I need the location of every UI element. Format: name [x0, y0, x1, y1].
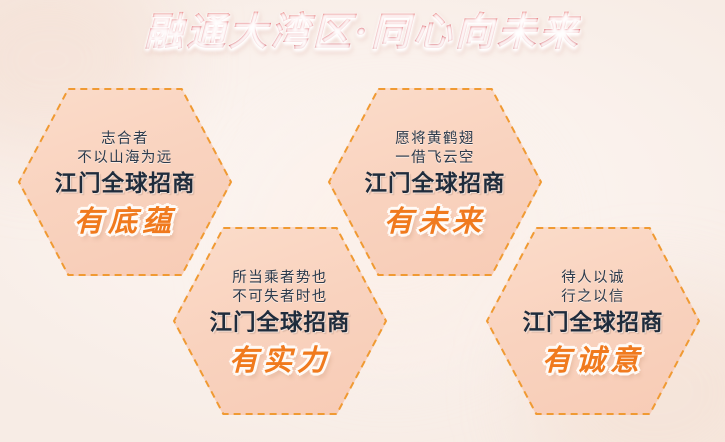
hex-card-4-poem-line-2: 行之以信 [561, 288, 625, 307]
hex-card-3-content: 所当乘者势也 不可失者时也 江门全球招商 有实力 [173, 227, 387, 415]
hex-card-2-accent: 有未来 [384, 204, 486, 238]
hex-card-3-poem-line-1: 所当乘者势也 [232, 269, 327, 288]
hex-card-3-accent: 有实力 [229, 343, 331, 377]
poster-canvas: 融通大湾区·同心向未来 志合者 不以山海为远 江门全球招商 有底蕴 愿将黄鹤翅 … [0, 0, 725, 442]
hex-card-3-brand: 江门全球招商 [209, 309, 350, 336]
poster-title: 融通大湾区·同心向未来 [144, 8, 581, 56]
hex-card-4[interactable]: 待人以诚 行之以信 江门全球招商 有诚意 [486, 227, 700, 415]
hex-card-2-poem-line-2: 一借飞云空 [395, 149, 475, 168]
hex-card-4-poem-line-1: 待人以诚 [561, 269, 625, 288]
hex-card-1-accent: 有底蕴 [74, 204, 176, 238]
hex-card-1-poem-line-1: 志合者 [101, 130, 149, 149]
hex-card-2-poem-line-1: 愿将黄鹤翅 [395, 130, 475, 149]
hex-card-3-poem-line-2: 不可失者时也 [232, 288, 327, 307]
hex-card-4-content: 待人以诚 行之以信 江门全球招商 有诚意 [486, 227, 700, 415]
hex-card-2-brand: 江门全球招商 [364, 170, 505, 197]
hex-card-1-poem-line-2: 不以山海为远 [77, 149, 172, 168]
hex-card-1-brand: 江门全球招商 [54, 170, 195, 197]
hex-card-4-brand: 江门全球招商 [522, 309, 663, 336]
hex-card-4-accent: 有诚意 [542, 343, 644, 377]
hex-card-3[interactable]: 所当乘者势也 不可失者时也 江门全球招商 有实力 [173, 227, 387, 415]
title-container: 融通大湾区·同心向未来 [0, 8, 725, 56]
